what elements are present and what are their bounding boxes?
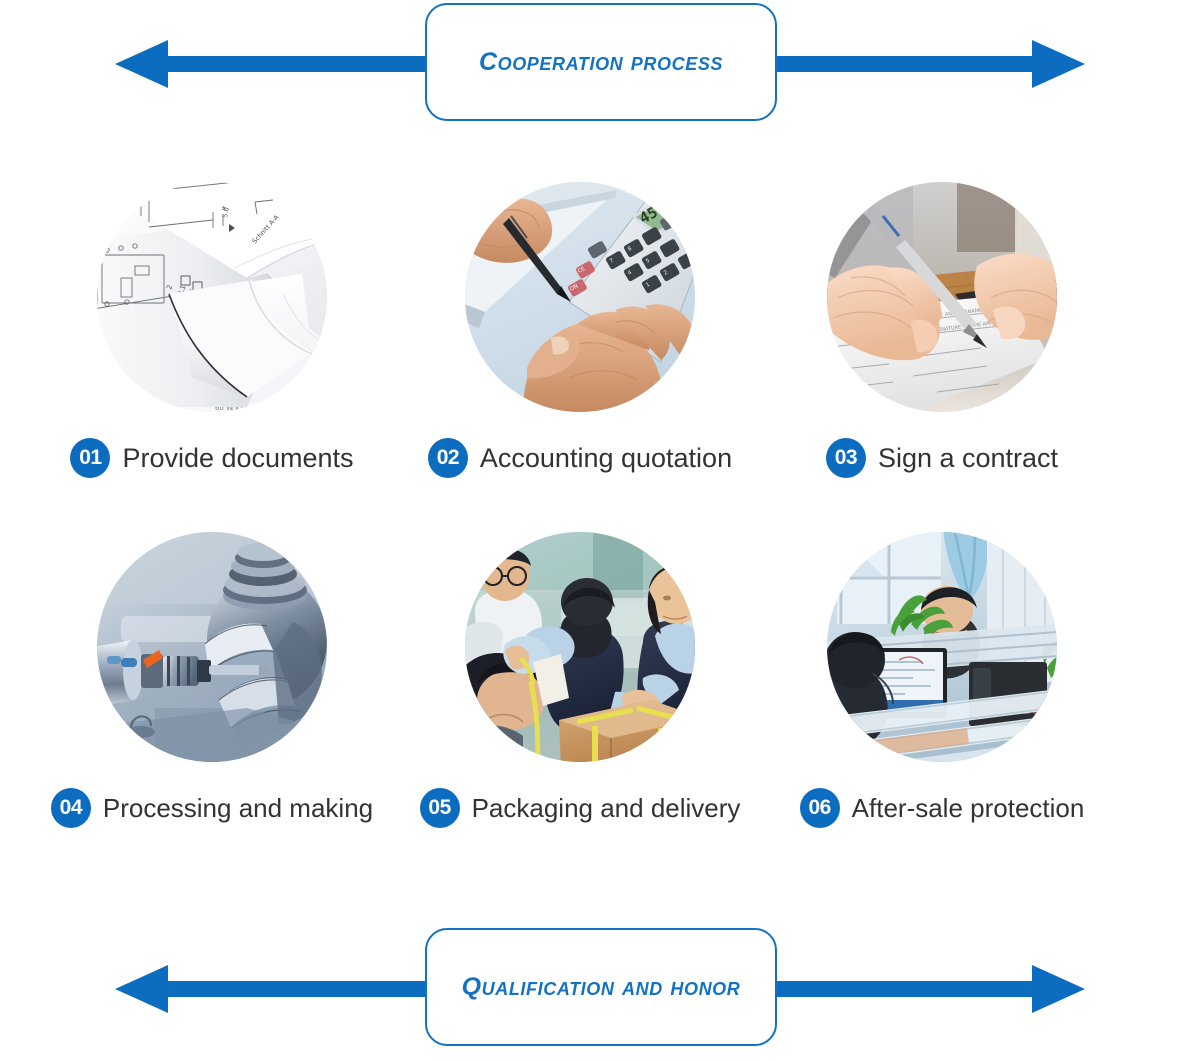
- step-card-04[interactable]: 04 Processing and making: [22, 510, 402, 860]
- step-row-2: 04 Processing and making: [0, 510, 1200, 860]
- step-row-1: b1 60 W: [0, 160, 1200, 510]
- step-caption-01: 01 Provide documents: [22, 438, 402, 478]
- step-caption-02: 02 Accounting quotation: [390, 438, 770, 478]
- workers-packing-box-photo: [465, 532, 695, 762]
- step-number-badge: 04: [51, 788, 91, 828]
- step-caption-05: 05 Packaging and delivery: [390, 788, 770, 828]
- banner-title-text-top: Cooperation process: [479, 48, 723, 77]
- step-caption-03: 03 Sign a contract: [752, 438, 1132, 478]
- step-card-05[interactable]: 05 Packaging and delivery: [390, 510, 770, 860]
- arrow-left-icon: [115, 965, 425, 1013]
- arrow-right-icon: [777, 965, 1085, 1013]
- step-card-02[interactable]: 454: [390, 160, 770, 510]
- office-staff-computers-photo: [827, 532, 1057, 762]
- process-steps: b1 60 W: [0, 160, 1200, 860]
- step-label: Provide documents: [122, 442, 353, 474]
- step-caption-04: 04 Processing and making: [22, 788, 402, 828]
- step-card-03[interactable]: NAME AND SURNAME SIGNATURE OF THE APPLIC…: [752, 160, 1132, 510]
- banner-title-text-bottom: Qualification and honor: [462, 973, 741, 1002]
- step-card-06[interactable]: 06 After-sale protection: [752, 510, 1132, 860]
- step-number-badge: 05: [420, 788, 460, 828]
- hands-calculator-photo: 454: [465, 182, 695, 412]
- arrow-left-icon: [115, 40, 425, 88]
- step-label: Packaging and delivery: [472, 792, 741, 824]
- step-caption-06: 06 After-sale protection: [752, 788, 1132, 828]
- step-number-badge: 06: [800, 788, 840, 828]
- cnc-machining-photo: [97, 532, 327, 762]
- arrow-right-icon: [777, 40, 1085, 88]
- banner-qualification-and-honor: Qualification and honor: [0, 925, 1200, 1055]
- banner-title-box-bottom: Qualification and honor: [425, 928, 777, 1046]
- step-label: Accounting quotation: [480, 442, 732, 474]
- rolled-blueprints-photo: b1 60 W: [97, 182, 327, 412]
- step-label: After-sale protection: [852, 792, 1085, 824]
- hands-signing-contract-photo: NAME AND SURNAME SIGNATURE OF THE APPLIC…: [827, 182, 1057, 412]
- step-number-badge: 03: [826, 438, 866, 478]
- step-number-badge: 02: [428, 438, 468, 478]
- step-label: Sign a contract: [878, 442, 1058, 474]
- step-card-01[interactable]: b1 60 W: [22, 160, 402, 510]
- step-number-badge: 01: [70, 438, 110, 478]
- banner-title-box-top: Cooperation process: [425, 3, 777, 121]
- banner-cooperation-process: Cooperation process: [0, 0, 1200, 130]
- step-label: Processing and making: [103, 792, 373, 824]
